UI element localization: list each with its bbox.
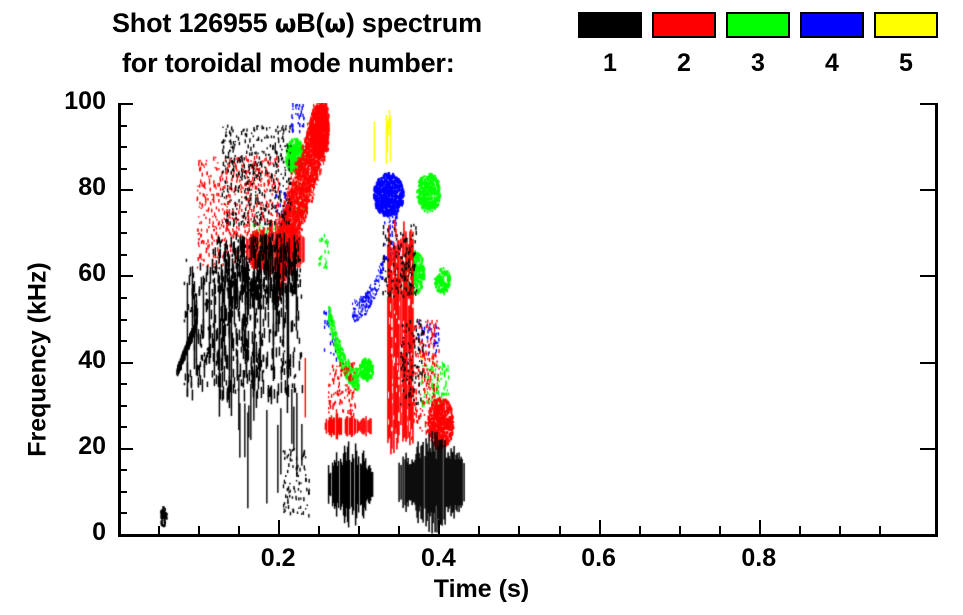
x-tick-label: 0.6 [554,546,644,571]
y-right-major-tick [920,362,935,364]
x-tick-label: 0.8 [714,546,804,571]
x-minor-tick [238,526,240,534]
legend: 12345 [578,12,948,90]
y-right-major-tick [920,189,935,191]
legend-label-1: 1 [578,50,642,76]
plot-area [118,103,935,534]
x-minor-tick [318,526,320,534]
x-minor-tick [879,526,881,534]
omega-symbol-2: ω [324,9,346,38]
chart-title: Shot 126955 ωB(ω) spectrum [112,8,482,39]
legend-label-3: 3 [726,50,790,76]
legend-swatch-4 [800,12,864,38]
y-major-tick [118,448,133,450]
y-minor-tick [118,168,127,170]
chart-title-b: B( [296,8,324,38]
y-right-major-tick [920,103,935,105]
y-minor-tick [118,383,127,385]
y-minor-tick [118,232,127,234]
y-right-major-tick [920,534,935,536]
y-minor-tick [118,426,127,428]
omega-symbol-1: ω [275,9,297,38]
y-minor-tick [118,405,127,407]
x-minor-tick [158,526,160,534]
y-major-tick [118,362,133,364]
x-minor-tick [478,526,480,534]
x-major-tick [599,520,601,534]
x-minor-tick [719,526,721,534]
chart-title-suffix: ) spectrum [346,8,482,38]
x-minor-tick [518,526,520,534]
x-major-tick [438,520,440,534]
x-minor-tick [679,526,681,534]
x-tick-label: 0.4 [393,546,483,571]
y-minor-tick [118,297,127,299]
legend-item-3: 3 [726,12,790,76]
x-tick-label: 0.2 [233,546,323,571]
legend-label-4: 4 [800,50,864,76]
y-minor-tick [118,512,127,514]
y-minor-tick [118,125,127,127]
spectrogram-figure: Shot 126955 ωB(ω) spectrum for toroidal … [0,0,963,615]
legend-swatch-1 [578,12,642,38]
legend-item-4: 4 [800,12,864,76]
legend-item-5: 5 [874,12,938,76]
y-right-major-tick [920,275,935,277]
x-axis-line [118,534,936,537]
spectrogram-canvas [118,103,935,534]
right-axis-line [935,103,938,537]
y-right-major-tick [920,448,935,450]
legend-swatch-5 [874,12,938,38]
y-major-tick [118,189,133,191]
x-major-tick [278,520,280,534]
chart-subtitle: for toroidal mode number: [122,48,455,79]
legend-label-2: 2 [652,50,716,76]
x-axis-label: Time (s) [0,575,963,604]
y-minor-tick [118,146,127,148]
y-major-tick [118,103,133,105]
x-minor-tick [559,526,561,534]
y-minor-tick [118,319,127,321]
x-minor-tick [639,526,641,534]
y-minor-tick [118,469,127,471]
y-minor-tick [118,254,127,256]
legend-swatch-3 [726,12,790,38]
legend-swatch-2 [652,12,716,38]
y-major-tick [118,275,133,277]
legend-label-5: 5 [874,50,938,76]
y-tick-label: 100 [34,89,106,114]
x-minor-tick [398,526,400,534]
x-minor-tick [198,526,200,534]
x-major-tick [759,520,761,534]
y-major-tick [118,534,133,536]
x-minor-tick [839,526,841,534]
y-minor-tick [118,340,127,342]
x-minor-tick [358,526,360,534]
legend-item-2: 2 [652,12,716,76]
x-minor-tick [799,526,801,534]
y-minor-tick [118,211,127,213]
y-axis-label: Frequency (kHz) [24,180,53,540]
y-minor-tick [118,491,127,493]
y-axis-label-wrapper: Frequency (kHz) [8,120,48,520]
chart-title-prefix: Shot 126955 [112,8,275,38]
legend-item-1: 1 [578,12,642,76]
